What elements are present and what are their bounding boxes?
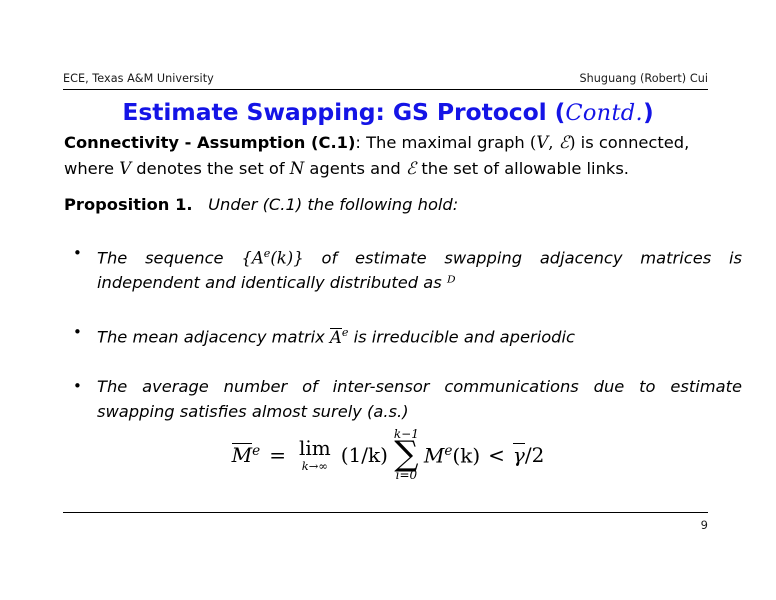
- distribution-symbol-d: ᴰ: [447, 273, 456, 293]
- page-title: Estimate Swapping: GS Protocol (Contd.): [0, 98, 776, 126]
- header-right-author: Shuguang (Robert) Cui: [579, 72, 708, 85]
- limit-keyword: lim: [299, 438, 331, 458]
- connectivity-text-4: agents and: [304, 159, 406, 178]
- graph-comma: ,: [548, 133, 559, 152]
- connectivity-label: Connectivity - Assumption (C.1): [64, 133, 355, 152]
- graph-edge-symbol: ℰ: [559, 133, 569, 153]
- adjacency-matrix-symbol: A: [252, 248, 264, 267]
- header-left-affiliation: ECE, Texas A&M University: [63, 72, 214, 85]
- adjacency-argument-k: (k): [270, 248, 293, 267]
- limit-subscript: k→∞: [302, 460, 328, 473]
- connectivity-paragraph: Connectivity - Assumption (C.1): The max…: [64, 130, 712, 182]
- equation-lhs-M: M: [232, 443, 252, 467]
- bullet-dot-icon: •: [73, 320, 82, 345]
- proposition-bullet-list: •The sequence {Ae(k)} of estimate swappi…: [64, 241, 712, 424]
- connectivity-text-1: The maximal graph: [366, 133, 530, 152]
- equation-term-argument-k: (k): [452, 443, 480, 467]
- connectivity-text-5: the set of allowable links.: [416, 159, 629, 178]
- slide-header: ECE, Texas A&M University Shuguang (Robe…: [63, 72, 708, 85]
- equation-factor-one-over-k: (1/k): [341, 443, 388, 467]
- display-equation: Me = lim k→∞ (1/k) k−1 ∑ i=0 Me(k) < γ/2: [0, 428, 776, 482]
- edge-symbol-2: ℰ: [406, 159, 416, 179]
- summation-lower-limit: i=0: [396, 469, 418, 482]
- connectivity-text-3: denotes the set of: [131, 159, 290, 178]
- equation-equals-sign: =: [269, 443, 286, 467]
- bullet-3-text: The average number of inter-sensor commu…: [97, 377, 742, 421]
- set-brace-open: {: [241, 248, 252, 267]
- header-divider-rule: [63, 89, 708, 90]
- set-brace-close: }: [293, 248, 304, 267]
- proposition-paragraph: Proposition 1. Under (C.1) the following…: [64, 192, 712, 218]
- list-item: •The mean adjacency matrix Ae is irreduc…: [64, 320, 742, 349]
- proposition-text: Under (C.1) the following hold:: [208, 195, 458, 214]
- equation-rhs-gamma: γ: [513, 443, 525, 467]
- vertex-symbol-2: V: [119, 159, 131, 178]
- bullet-1-pre-text: The sequence: [97, 248, 241, 267]
- equation-term-M: M: [424, 443, 444, 467]
- graph-vertex-symbol: V: [536, 133, 548, 152]
- bullet-dot-icon: •: [73, 241, 82, 266]
- bullet-2-post-text: is irreducible and aperiodic: [348, 328, 575, 347]
- summation-sigma-icon: ∑: [394, 439, 418, 471]
- list-item: •The average number of inter-sensor comm…: [64, 374, 742, 424]
- footer-divider-rule: [63, 512, 708, 513]
- mean-adjacency-symbol: A: [330, 328, 342, 347]
- page-title-main: Estimate Swapping: GS Protocol (: [122, 98, 565, 126]
- bullet-dot-icon: •: [73, 374, 82, 399]
- proposition-label: Proposition 1.: [64, 195, 193, 214]
- equation-lhs-superscript-e: e: [252, 443, 260, 459]
- list-item: •The sequence {Ae(k)} of estimate swappi…: [64, 241, 742, 296]
- slide-page: ECE, Texas A&M University Shuguang (Robe…: [0, 0, 776, 600]
- bullet-2-pre-text: The mean adjacency matrix: [97, 328, 330, 347]
- page-title-closing: ): [643, 98, 654, 126]
- limit-operator: lim k→∞: [299, 438, 331, 472]
- equation-less-than-sign: <: [488, 443, 505, 467]
- equation-rhs-divide-two: /2: [525, 443, 544, 467]
- page-title-contd: Contd.: [565, 100, 643, 126]
- connectivity-colon: :: [355, 133, 366, 152]
- summation-operator: k−1 ∑ i=0: [394, 428, 419, 482]
- page-number: 9: [63, 518, 708, 532]
- agent-count-symbol: N: [290, 159, 304, 178]
